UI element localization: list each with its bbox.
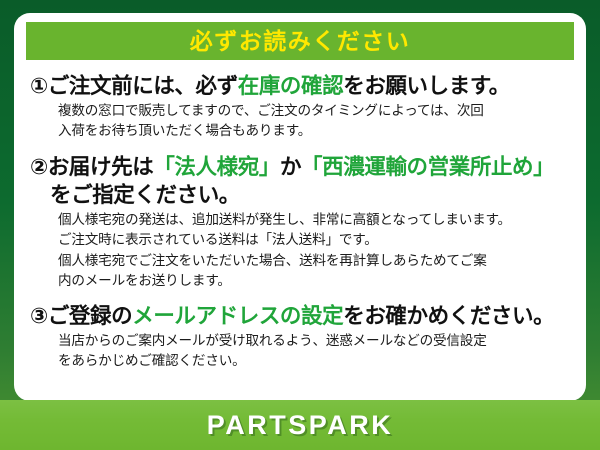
notice-item: ①ご注文前には、必ず在庫の確認をお願いします。複数の窓口で販売してますので、ご注… [22,72,576,142]
notice-heading-text: をお確かめください。 [343,304,554,328]
notice-body-line: 内のメールをお送りします。 [58,271,576,291]
notice-heading-highlight: 在庫の確認 [238,74,344,98]
notice-item-body: 複数の窓口で販売してますので、ご注文のタイミングによっては、次回入荷をお待ち頂い… [22,101,576,141]
notice-heading-text: ご注文前には、必ず [48,74,238,98]
notice-item: ③ご登録のメールアドレスの設定をお確かめください。当店からのご案内メールが受け取… [22,302,576,372]
notice-item-heading: ③ご登録のメールアドレスの設定をお確かめください。 [22,302,576,330]
notice-card: 必ずお読みください ①ご注文前には、必ず在庫の確認をお願いします。複数の窓口で販… [0,0,600,450]
notice-item-body: 当店からのご案内メールが受け取れるよう、迷惑メールなどの受信設定をあらかじめご確… [22,331,576,371]
notice-item-marker: ② [30,155,48,179]
notice-body-line: 個人様宅宛でご注文をいただいた場合、送料を再計算しあらためてご案 [58,251,576,271]
notice-item-marker: ③ [30,304,48,328]
notice-items-list: ①ご注文前には、必ず在庫の確認をお願いします。複数の窓口で販売してますので、ご注… [14,69,586,371]
notice-body-line: 個人様宅宛の発送は、追加送料が発生し、非常に高額となってしまいます。 [58,210,576,230]
notice-header-title: 必ずお読みください [190,30,411,53]
notice-heading-text: か [280,155,301,179]
notice-item-heading: ①ご注文前には、必ず在庫の確認をお願いします。 [22,72,576,100]
notice-panel: 必ずお読みください ①ご注文前には、必ず在庫の確認をお願いします。複数の窓口で販… [14,13,586,401]
notice-heading-text: お届け先は [48,155,154,179]
notice-heading-highlight: 「法人様宛」 [153,155,280,179]
notice-body-line: をあらかじめご確認ください。 [58,351,576,371]
notice-heading-text: ご登録の [48,304,132,328]
notice-footer: PARTSPARK [0,400,600,450]
notice-item-body: 個人様宅宛の発送は、追加送料が発生し、非常に高額となってしまいます。ご注文時に表… [22,210,576,290]
notice-header-bar: 必ずお読みください [26,22,574,60]
notice-body-line: 入荷をお待ち頂いただく場合もあります。 [58,121,576,141]
brand-logo-text: PARTSPARK [207,412,394,439]
notice-item: ②お届け先は「法人様宛」か「西濃運輸の営業所止め」をご指定ください。個人様宅宛の… [22,153,576,291]
notice-item-heading: ②お届け先は「法人様宛」か「西濃運輸の営業所止め」をご指定ください。 [22,153,576,210]
notice-heading-highlight: 「西濃運輸の営業所止め」 [301,155,554,179]
notice-body-line: 複数の窓口で販売してますので、ご注文のタイミングによっては、次回 [58,101,576,121]
notice-body-line: ご注文時に表示されている送料は「法人送料」です。 [58,230,576,250]
notice-heading-highlight: メールアドレスの設定 [132,304,343,328]
notice-body-line: 当店からのご案内メールが受け取れるよう、迷惑メールなどの受信設定 [58,331,576,351]
notice-heading-line2: をご指定ください。 [30,181,576,209]
notice-item-marker: ① [30,74,48,98]
notice-heading-text: をお願いします。 [343,74,510,98]
